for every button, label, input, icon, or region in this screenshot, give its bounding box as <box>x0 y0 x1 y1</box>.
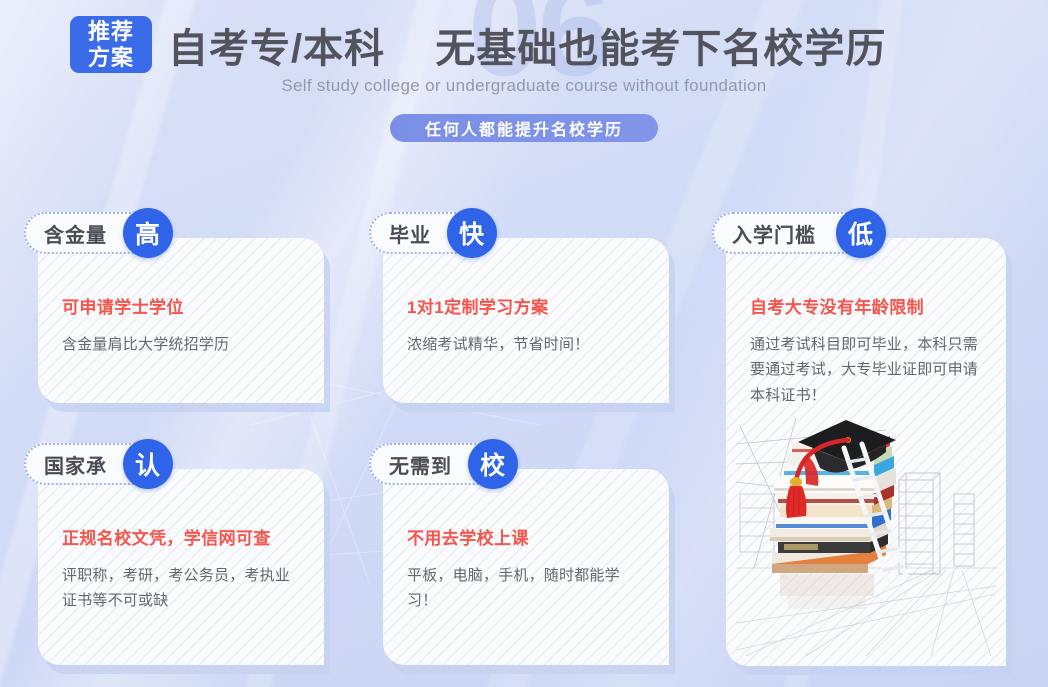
card-body: 可申请学士学位 含金量肩比大学统招学历 <box>62 296 302 357</box>
card-grade-badge: 快 <box>447 208 497 258</box>
feature-card[interactable]: 国家承 认 正规名校文凭，学信网可查 评职称，考研，考公务员，考执业证书等不可或… <box>38 469 324 665</box>
card-tag-label: 含金量 <box>44 219 107 248</box>
badge-line-1: 推荐 <box>88 19 134 45</box>
card-grade-badge: 高 <box>123 208 173 258</box>
card-heading: 可申请学士学位 <box>62 296 302 321</box>
card-description: 浓缩考试精华，节省时间！ <box>407 332 647 358</box>
feature-card[interactable]: 无需到 校 不用去学校上课 平板，电脑，手机，随时都能学习！ <box>383 469 669 665</box>
card-tag: 无需到 校 <box>369 443 512 485</box>
card-tag: 国家承 认 <box>24 443 167 485</box>
feature-card[interactable]: 含金量 高 可申请学士学位 含金量肩比大学统招学历 <box>38 238 324 403</box>
card-tag-label: 入学门槛 <box>732 219 816 248</box>
card-tag-label: 毕业 <box>389 219 431 248</box>
card-grade-badge: 校 <box>468 439 518 489</box>
card-grade-badge: 认 <box>123 439 173 489</box>
card-tag: 含金量 高 <box>24 212 167 254</box>
promo-page: 06 推荐 方案 自考专/本科 无基础也能考下名校学历 Self study c… <box>0 0 1048 687</box>
tagline-pill: 任何人都能提升名校学历 <box>390 114 658 142</box>
card-heading: 1对1定制学习方案 <box>407 296 647 321</box>
card-grade-badge: 低 <box>836 208 886 258</box>
card-heading: 正规名校文凭，学信网可查 <box>62 527 302 552</box>
page-subtitle: Self study college or undergraduate cour… <box>0 76 1048 96</box>
card-description: 平板，电脑，手机，随时都能学习！ <box>407 563 647 615</box>
card-heading: 自考大专没有年龄限制 <box>750 296 984 321</box>
feature-card[interactable]: 毕业 快 1对1定制学习方案 浓缩考试精华，节省时间！ <box>383 238 669 403</box>
graduation-cap-books-ladder-illustration <box>736 418 996 656</box>
feature-card[interactable]: 入学门槛 低 自考大专没有年龄限制 通过考试科目即可毕业，本科只需要通过考试，大… <box>726 238 1006 666</box>
page-title-part-1: 自考专/本科 <box>168 27 385 71</box>
card-body: 1对1定制学习方案 浓缩考试精华，节省时间！ <box>407 296 647 357</box>
card-body: 正规名校文凭，学信网可查 评职称，考研，考公务员，考执业证书等不可或缺 <box>62 527 302 614</box>
card-tag: 入学门槛 低 <box>712 212 880 254</box>
card-body: 自考大专没有年龄限制 通过考试科目即可毕业，本科只需要通过考试，大专毕业证即可申… <box>750 296 984 409</box>
card-description: 评职称，考研，考公务员，考执业证书等不可或缺 <box>62 563 302 615</box>
page-title: 自考专/本科 无基础也能考下名校学历 <box>168 16 886 74</box>
card-heading: 不用去学校上课 <box>407 527 647 552</box>
recommended-plan-badge: 推荐 方案 <box>70 16 152 73</box>
page-title-part-2: 无基础也能考下名校学历 <box>435 27 886 71</box>
card-tag: 毕业 快 <box>369 212 491 254</box>
badge-line-2: 方案 <box>88 45 134 71</box>
card-tag-label: 国家承 <box>44 450 107 479</box>
card-tag-label: 无需到 <box>389 450 452 479</box>
card-description: 通过考试科目即可毕业，本科只需要通过考试，大专毕业证即可申请本科证书！ <box>750 332 984 409</box>
card-body: 不用去学校上课 平板，电脑，手机，随时都能学习！ <box>407 527 647 614</box>
card-description: 含金量肩比大学统招学历 <box>62 332 302 358</box>
